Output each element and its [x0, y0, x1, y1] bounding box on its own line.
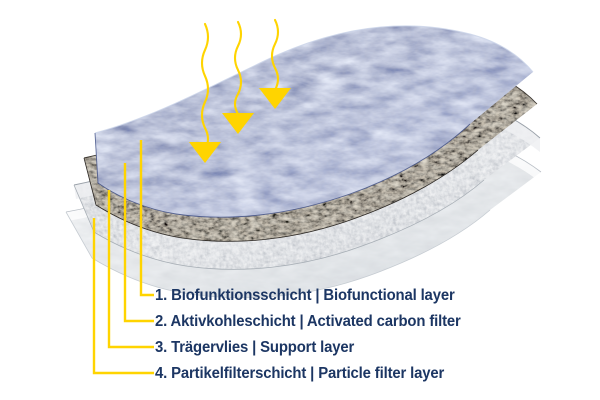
- layer-label-3-text: 3. Trägervlies | Support layer: [155, 339, 354, 357]
- diagram-canvas: 1. Biofunktionsschicht | Biofunctional l…: [0, 0, 600, 400]
- layer-label-1: 1. Biofunktionsschicht | Biofunctional l…: [155, 286, 467, 306]
- layer-label-4: 4. Partikelfilterschicht | Particle filt…: [155, 364, 456, 384]
- layer-label-2-text: 2. Aktivkohleschicht | Activated carbon …: [155, 313, 461, 331]
- layer-label-3: 3. Trägervlies | Support layer: [155, 338, 362, 358]
- layer-label-1-text: 1. Biofunktionsschicht | Biofunctional l…: [155, 287, 455, 305]
- layer-label-4-text: 4. Partikelfilterschicht | Particle filt…: [155, 365, 444, 383]
- layer-label-2: 2. Aktivkohleschicht | Activated carbon …: [155, 312, 473, 332]
